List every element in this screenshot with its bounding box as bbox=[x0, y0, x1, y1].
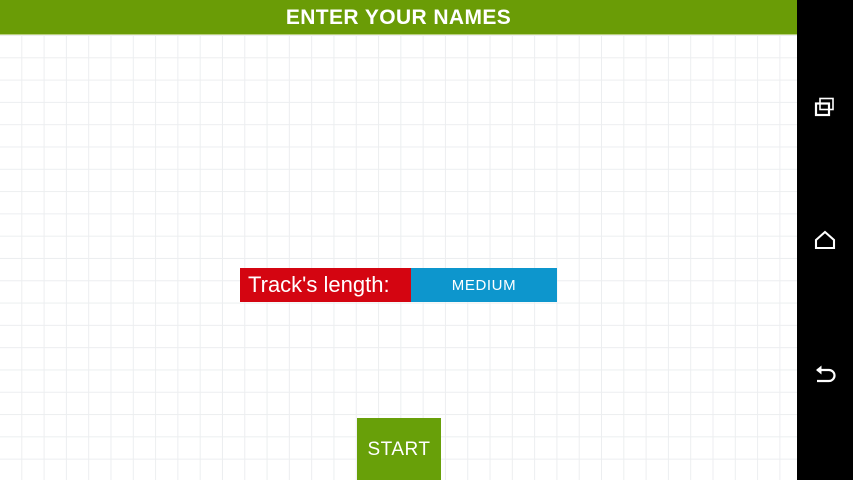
track-length-label: Track's length: bbox=[240, 268, 411, 302]
grid-paper-background bbox=[0, 35, 797, 480]
device-screen: ENTER YOUR NAMES Andy Woody Track's leng… bbox=[0, 0, 853, 480]
track-length-value-selector[interactable]: MEDIUM bbox=[411, 268, 557, 302]
android-navigation-bar bbox=[797, 0, 853, 480]
page-title: ENTER YOUR NAMES bbox=[286, 7, 511, 28]
start-button[interactable]: START bbox=[357, 418, 441, 480]
track-length-control: Track's length: MEDIUM bbox=[240, 268, 557, 302]
home-icon bbox=[812, 227, 838, 253]
app-viewport: ENTER YOUR NAMES Andy Woody Track's leng… bbox=[0, 0, 797, 480]
recents-button[interactable] bbox=[797, 79, 853, 135]
title-bar: ENTER YOUR NAMES bbox=[0, 0, 797, 35]
back-button[interactable] bbox=[797, 346, 853, 402]
back-icon bbox=[812, 361, 838, 387]
home-button[interactable] bbox=[797, 212, 853, 268]
recents-icon bbox=[812, 94, 838, 120]
